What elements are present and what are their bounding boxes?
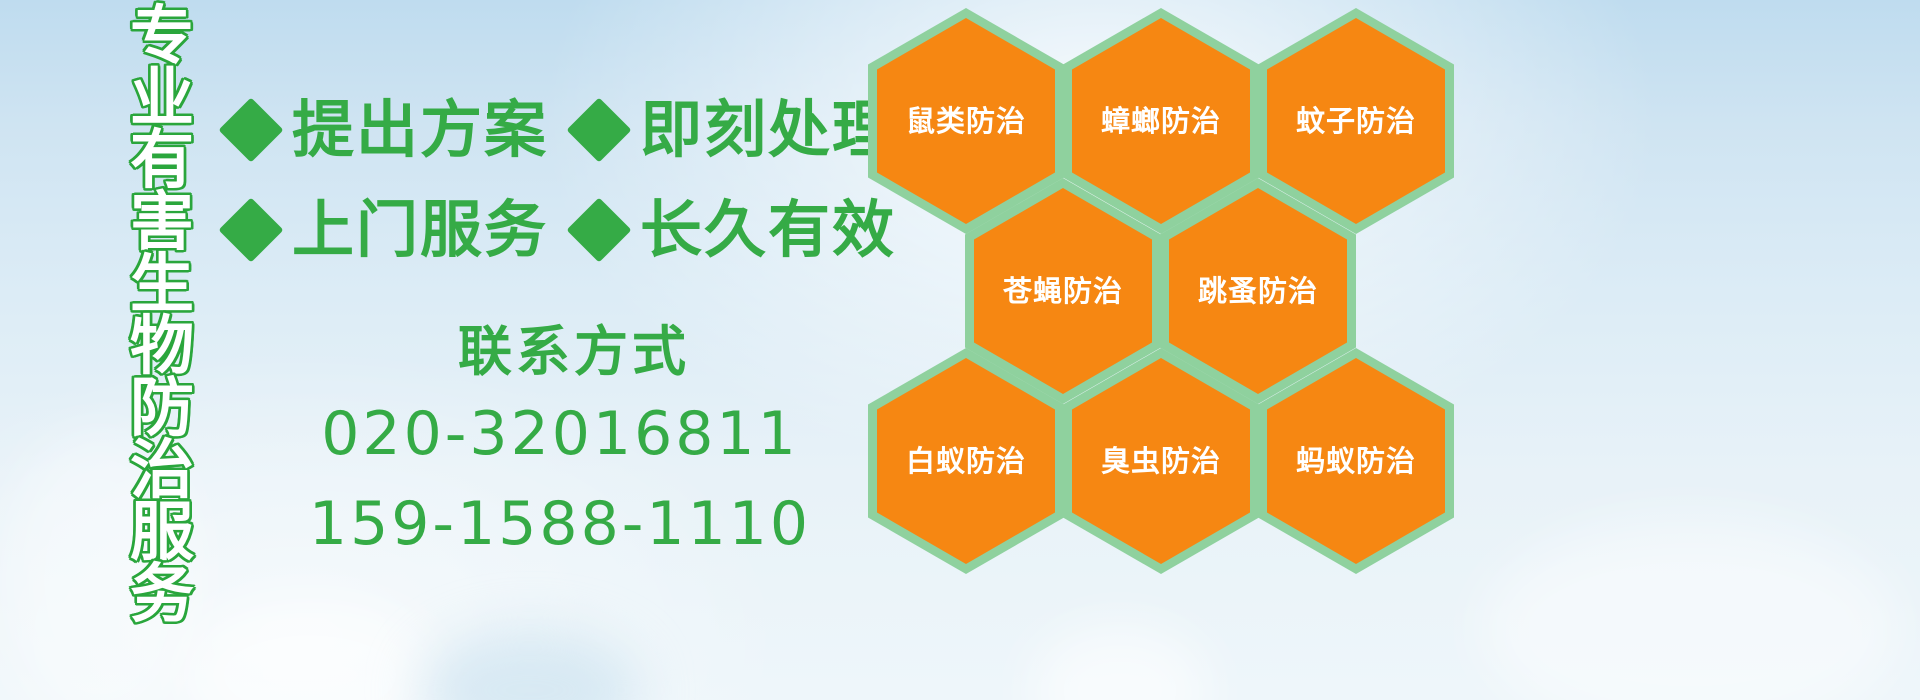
hex-label: 苍蝇防治 bbox=[1003, 277, 1123, 306]
contact-block: 联系方式 020-32016811 159-1588-1110 bbox=[300, 318, 820, 563]
feature-row: 上门服务 长久有效 bbox=[228, 180, 868, 280]
feature-label: 上门服务 bbox=[292, 199, 548, 261]
hex-label: 蚂蚁防治 bbox=[1296, 447, 1416, 476]
service-honeycomb-grid: 鼠类防治 蟑螂防治 蚊子防治 苍蝇防治 跳蚤防治 白蚁防治 臭虫防治 bbox=[858, 0, 1478, 700]
diamond-bullet-icon bbox=[566, 197, 631, 262]
feature-item: 提出方案 bbox=[228, 99, 548, 161]
vertical-headline-char: 专 bbox=[130, 6, 194, 68]
background-bokeh-blob bbox=[180, 600, 440, 700]
vertical-headline-char: 防 bbox=[130, 378, 194, 440]
vertical-headline-char: 服 bbox=[130, 502, 194, 564]
feature-item: 即刻处理 bbox=[576, 99, 896, 161]
diamond-bullet-icon bbox=[566, 97, 631, 162]
vertical-headline-char: 治 bbox=[130, 440, 194, 502]
diamond-bullet-icon bbox=[218, 197, 283, 262]
feature-label: 提出方案 bbox=[292, 99, 548, 161]
pest-control-service-banner: 专 业 有 害 生 物 防 治 服 务 提出方案 即刻处理 上门服务 bbox=[0, 0, 1920, 700]
vertical-headline-char: 物 bbox=[130, 316, 194, 378]
diamond-bullet-icon bbox=[218, 97, 283, 162]
feature-row: 提出方案 即刻处理 bbox=[228, 80, 868, 180]
hex-label: 蚊子防治 bbox=[1296, 107, 1416, 136]
vertical-headline-char: 务 bbox=[130, 564, 194, 626]
vertical-headline-char: 业 bbox=[130, 68, 194, 130]
hex-label: 蟑螂防治 bbox=[1101, 107, 1221, 136]
feature-item: 上门服务 bbox=[228, 199, 548, 261]
feature-list: 提出方案 即刻处理 上门服务 长久有效 bbox=[228, 80, 868, 280]
vertical-headline-char: 害 bbox=[130, 192, 194, 254]
phone-landline[interactable]: 020-32016811 bbox=[300, 396, 820, 473]
hex-label: 臭虫防治 bbox=[1101, 447, 1221, 476]
vertical-headline: 专 业 有 害 生 物 防 治 服 务 bbox=[108, 6, 216, 566]
phone-mobile[interactable]: 159-1588-1110 bbox=[300, 486, 820, 563]
background-bokeh-blob bbox=[420, 630, 640, 700]
vertical-headline-char: 生 bbox=[130, 254, 194, 316]
feature-item: 长久有效 bbox=[576, 199, 896, 261]
contact-title: 联系方式 bbox=[328, 318, 820, 386]
hex-label: 白蚁防治 bbox=[906, 447, 1026, 476]
background-bokeh-blob bbox=[1480, 520, 1900, 700]
hex-label: 鼠类防治 bbox=[906, 107, 1026, 136]
vertical-headline-char: 有 bbox=[130, 130, 194, 192]
hex-label: 跳蚤防治 bbox=[1198, 277, 1318, 306]
